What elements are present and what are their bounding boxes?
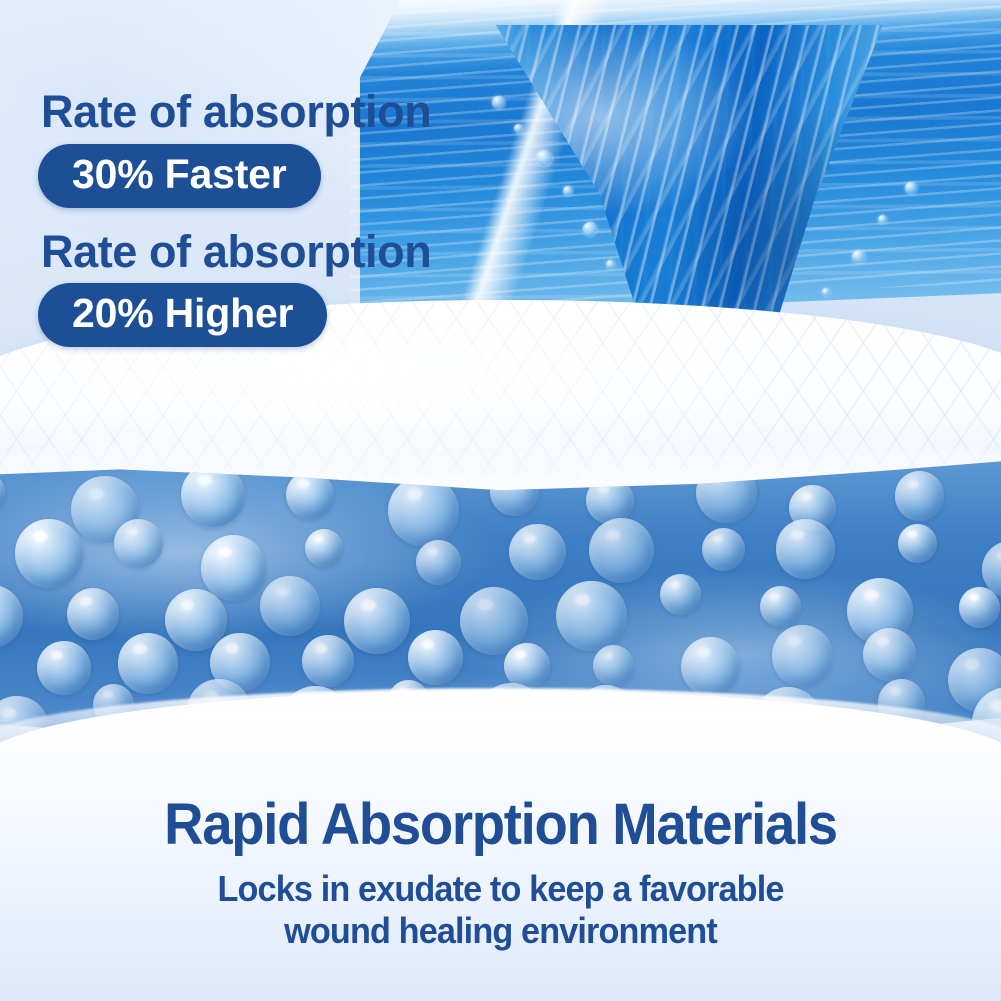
gel-bead: [201, 535, 267, 601]
gel-bead: [305, 529, 343, 567]
gel-bead: [114, 519, 163, 568]
water-droplet: [852, 250, 865, 263]
claims-block: Rate of absorption 30% Faster Rate of ab…: [38, 88, 558, 363]
water-droplet: [563, 186, 573, 196]
footer-text-block: Rapid Absorption Materials Locks in exud…: [0, 795, 1001, 952]
gel-bead: [760, 586, 801, 627]
gel-bead: [408, 630, 463, 685]
gel-bead: [589, 518, 654, 583]
gel-bead: [302, 635, 354, 687]
water-droplet: [878, 215, 887, 224]
gel-bead: [863, 628, 917, 682]
footer-subline: Locks in exudate to keep a favorable wou…: [25, 868, 976, 952]
bottom-panel-top-edge: [0, 688, 1001, 778]
gel-bead: [895, 471, 944, 520]
gel-bead: [898, 524, 937, 563]
claim-item: Rate of absorption 30% Faster: [38, 88, 558, 224]
gel-bead: [260, 576, 320, 636]
claim-item: Rate of absorption 20% Higher: [38, 228, 558, 364]
claim-title: Rate of absorption: [41, 88, 558, 136]
gel-bead: [959, 587, 1000, 628]
gel-bead: [660, 574, 701, 615]
gel-bead: [118, 633, 179, 694]
product-feature-graphic: Rate of absorption 30% Faster Rate of ab…: [0, 0, 1001, 1001]
gel-bead: [344, 588, 410, 654]
footer-subline-line2: wound healing environment: [25, 910, 976, 952]
gel-bead: [37, 641, 91, 695]
footer-subline-line1: Locks in exudate to keep a favorable: [25, 868, 976, 910]
gel-bead: [702, 528, 745, 571]
water-droplet: [822, 288, 830, 296]
water-droplet: [583, 222, 597, 236]
gel-bead: [681, 637, 740, 696]
gel-bead: [15, 519, 84, 588]
gel-bead: [504, 643, 550, 689]
water-droplet: [905, 182, 917, 194]
footer-headline: Rapid Absorption Materials: [30, 795, 971, 854]
claim-title: Rate of absorption: [41, 228, 558, 276]
claim-badge: 30% Faster: [38, 144, 321, 208]
gel-bead: [509, 524, 565, 580]
gel-bead: [416, 540, 461, 585]
gel-bead: [556, 581, 627, 652]
water-droplet: [606, 260, 615, 269]
gel-bead: [772, 625, 833, 686]
gel-bead: [776, 519, 836, 579]
claim-badge: 20% Higher: [38, 283, 327, 347]
